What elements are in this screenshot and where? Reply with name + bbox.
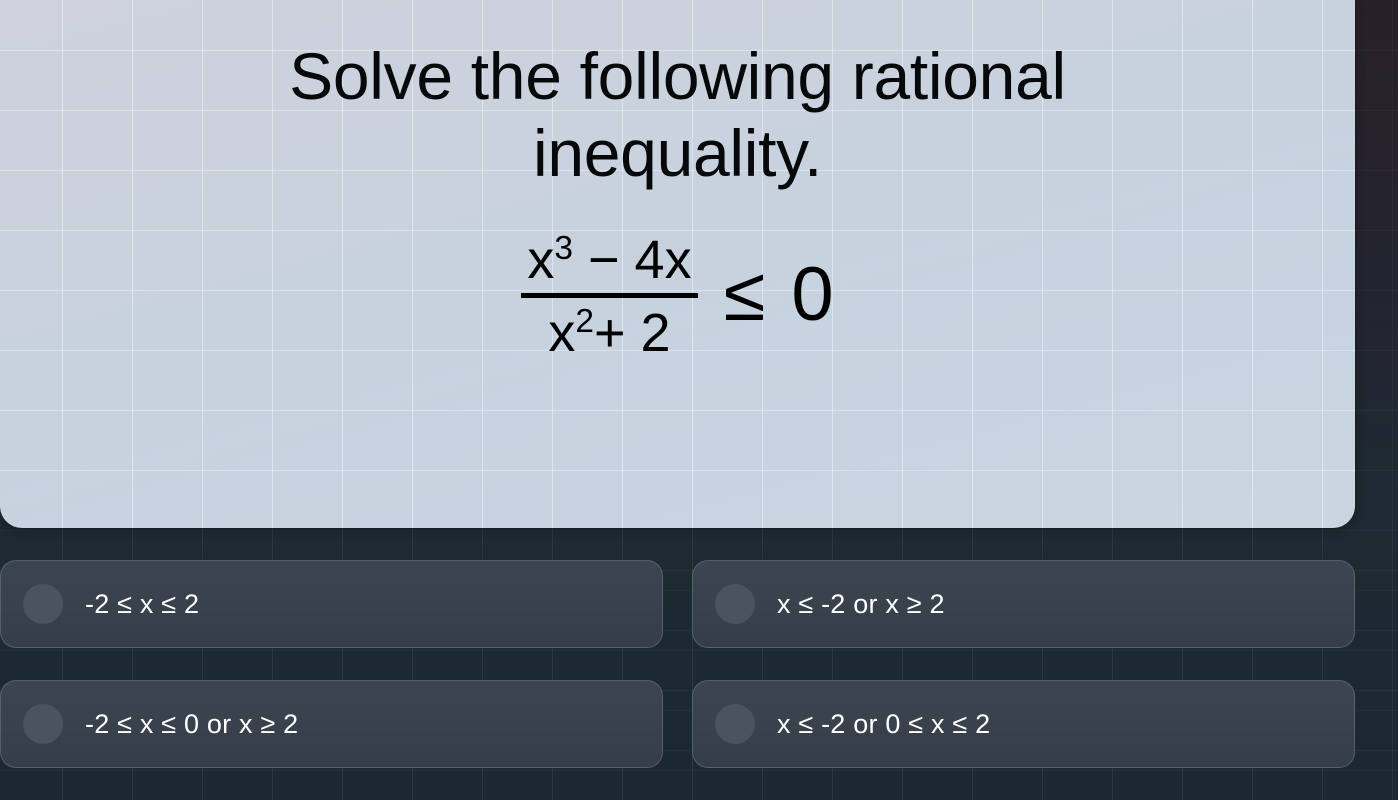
denominator-base: x (548, 303, 575, 363)
numerator-rest: − 4x (573, 230, 692, 290)
answer-option-label: -2 ≤ x ≤ 0 or x ≥ 2 (85, 709, 298, 740)
answer-option-label: x ≤ -2 or x ≥ 2 (777, 589, 945, 620)
radio-unselected-icon[interactable] (23, 704, 63, 744)
fraction-numerator: x3 − 4x (521, 233, 697, 293)
numerator-exponent: 3 (554, 230, 573, 267)
relation-operator: ≤ (724, 257, 766, 337)
radio-unselected-icon[interactable] (23, 584, 63, 624)
quiz-screen: Solve the following rational inequality.… (0, 0, 1398, 800)
right-hand-side: 0 (791, 257, 833, 337)
answer-options: -2 ≤ x ≤ 2 x ≤ -2 or x ≥ 2 -2 ≤ x ≤ 0 or… (0, 560, 1355, 768)
question-content: Solve the following rational inequality.… (0, 0, 1355, 360)
inequality-formula: x3 − 4x x2+ 2 ≤ 0 (0, 233, 1355, 360)
answer-option-a[interactable]: -2 ≤ x ≤ 2 (0, 560, 663, 648)
denominator-exponent: 2 (575, 303, 594, 340)
question-title: Solve the following rational inequality. (0, 0, 1355, 191)
question-card: Solve the following rational inequality.… (0, 0, 1355, 528)
numerator-base: x (527, 230, 554, 290)
radio-unselected-icon[interactable] (715, 584, 755, 624)
answer-option-d[interactable]: x ≤ -2 or 0 ≤ x ≤ 2 (692, 680, 1355, 768)
answer-option-b[interactable]: x ≤ -2 or x ≥ 2 (692, 560, 1355, 648)
answer-option-label: x ≤ -2 or 0 ≤ x ≤ 2 (777, 709, 990, 740)
radio-unselected-icon[interactable] (715, 704, 755, 744)
answer-option-c[interactable]: -2 ≤ x ≤ 0 or x ≥ 2 (0, 680, 663, 768)
denominator-rest: + 2 (594, 303, 671, 363)
answer-option-label: -2 ≤ x ≤ 2 (85, 589, 199, 620)
fraction: x3 − 4x x2+ 2 (521, 233, 697, 360)
fraction-denominator: x2+ 2 (542, 298, 676, 360)
